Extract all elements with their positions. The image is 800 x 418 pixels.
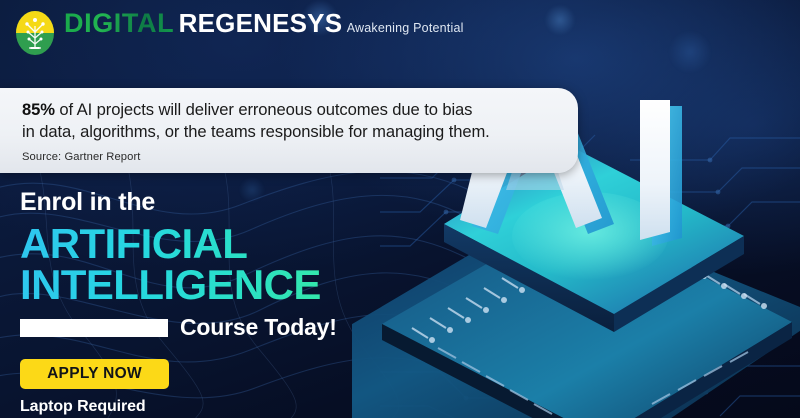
course-suffix-label: Course Today!: [180, 314, 337, 341]
promo-kicker: Enrol in the: [20, 190, 337, 215]
brand-wordmark: DIGITAL REGENESYS Awakening Potential: [64, 8, 466, 37]
statistic-line-2: in data, algorithms, or the teams respon…: [22, 121, 560, 143]
brand-logo[interactable]: DIGITAL REGENESYS Awakening Potential: [13, 8, 466, 58]
statistic-line-1: 85% of AI projects will deliver erroneou…: [22, 99, 560, 121]
ai-course-promo-banner: DIGITAL REGENESYS Awakening Potential 85…: [0, 0, 800, 418]
tree-circuit-emblem-icon: [13, 8, 57, 58]
brand-name-digital: DIGITAL: [64, 8, 174, 38]
statistic-banner: 85% of AI projects will deliver erroneou…: [0, 88, 578, 173]
apply-now-button[interactable]: APPLY NOW: [20, 359, 169, 389]
promo-headline: ARTIFICIAL INTELLIGENCE: [20, 223, 337, 305]
course-suffix-row: Course Today!: [20, 314, 337, 341]
statistic-line-1-rest: of AI projects will deliver erroneous ou…: [55, 100, 472, 119]
requirement-note: Laptop Required: [20, 398, 337, 416]
statistic-percent: 85%: [22, 100, 55, 119]
promo-copy-block: Enrol in the ARTIFICIAL INTELLIGENCE Cou…: [20, 190, 337, 416]
brand-name-regenesys: REGENESYS: [179, 8, 343, 38]
statistic-source: Source: Gartner Report: [22, 151, 560, 163]
brand-tagline: Awakening Potential: [347, 21, 466, 35]
promo-headline-line-2: INTELLIGENCE: [20, 264, 337, 305]
promo-headline-line-1: ARTIFICIAL: [20, 220, 247, 267]
redaction-bar: [20, 319, 168, 337]
